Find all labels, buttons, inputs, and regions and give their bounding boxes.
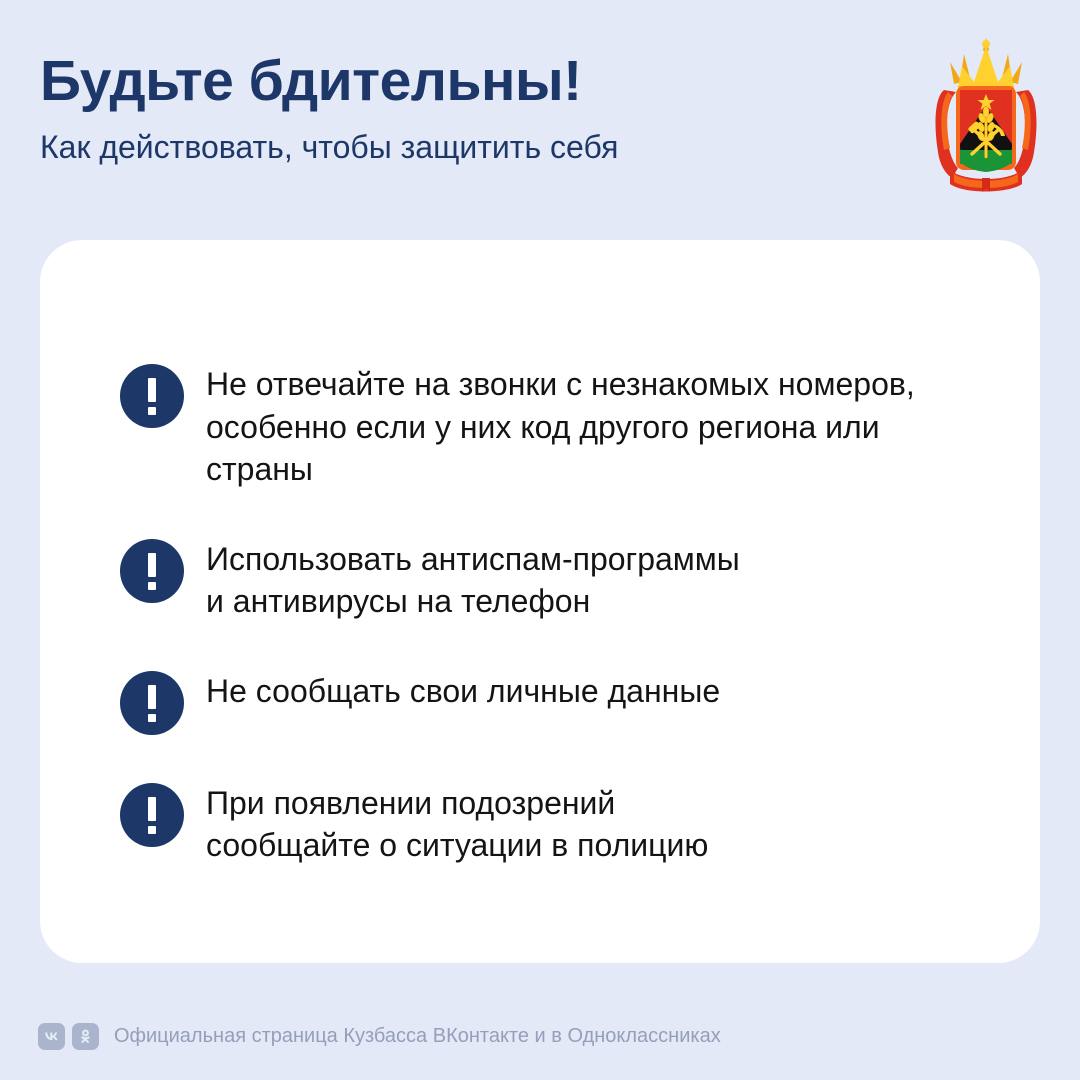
ok-icon[interactable]	[72, 1023, 99, 1050]
page-footer: Официальная страница Кузбасса ВКонтакте …	[38, 1023, 721, 1050]
exclamation-icon	[120, 364, 184, 428]
list-item-label: Использовать антиспам-программы и антиви…	[206, 537, 990, 623]
list-item: При появлении подозрений сообщайте о сит…	[120, 781, 990, 867]
exclamation-icon	[120, 539, 184, 603]
list-item: Не сообщать свои личные данные	[120, 669, 990, 735]
page-header: Будьте бдительны! Как действовать, чтобы…	[0, 0, 1080, 220]
page-subtitle: Как действовать, чтобы защитить себя	[40, 128, 900, 166]
list-item-label: Не отвечайте на звонки с незнакомых номе…	[206, 362, 990, 491]
header-text-block: Будьте бдительны! Как действовать, чтобы…	[40, 52, 900, 166]
vk-icon[interactable]	[38, 1023, 65, 1050]
kuzbass-coat-of-arms-icon	[920, 32, 1052, 200]
list-item-label: Не сообщать свои личные данные	[206, 669, 990, 713]
list-item-label: При появлении подозрений сообщайте о сит…	[206, 781, 990, 867]
page-title: Будьте бдительны!	[40, 52, 900, 112]
list-item: Не отвечайте на звонки с незнакомых номе…	[120, 362, 990, 491]
advice-list: Не отвечайте на звонки с незнакомых номе…	[120, 362, 990, 867]
advice-card: Не отвечайте на звонки с незнакомых номе…	[40, 240, 1040, 963]
list-item: Использовать антиспам-программы и антиви…	[120, 537, 990, 623]
exclamation-icon	[120, 671, 184, 735]
footer-label: Официальная страница Кузбасса ВКонтакте …	[114, 1025, 721, 1048]
exclamation-icon	[120, 783, 184, 847]
